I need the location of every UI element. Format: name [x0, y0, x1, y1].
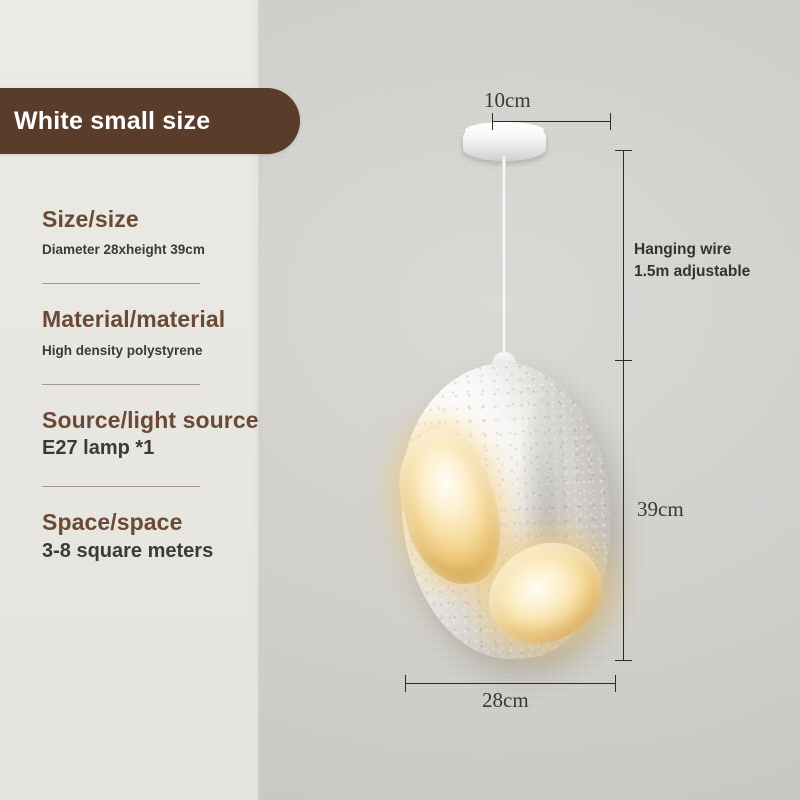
dimension-tick-canopy-left [492, 113, 493, 130]
hanging-wire-note-line1: Hanging wire [634, 241, 731, 258]
spec-item-space: Space/space 3-8 square meters [42, 509, 257, 562]
spec-list: Size/size Diameter 28xheight 39cm Materi… [42, 206, 257, 563]
spec-heading: Material/material [42, 306, 257, 332]
spec-value: High density polystyrene [42, 343, 257, 358]
dimension-line-wire [623, 150, 624, 360]
dimension-tick-width-right [615, 675, 616, 692]
dimension-tick-wire-top [615, 150, 632, 151]
title-banner-label: White small size [0, 107, 210, 136]
spec-item-light-source: Source/light source E27 lamp *1 [42, 407, 257, 460]
hanging-wire-note: Hanging wire 1.5m adjustable [634, 239, 750, 283]
spec-heading: Size/size [42, 206, 257, 232]
product-spec-image: White small size Size/size Diameter 28xh… [0, 0, 800, 800]
spec-value: Diameter 28xheight 39cm [42, 242, 257, 257]
spec-heading: Space/space [42, 509, 257, 535]
spec-item-material: Material/material High density polystyre… [42, 306, 257, 357]
spec-divider [42, 384, 200, 385]
spec-heading: Source/light source [42, 407, 257, 433]
dimension-line-canopy [492, 121, 610, 122]
dimension-tick-width-left [405, 675, 406, 692]
spec-item-size: Size/size Diameter 28xheight 39cm [42, 206, 257, 257]
dimension-label-shade-width: 28cm [482, 688, 529, 713]
spec-divider [42, 283, 200, 284]
spec-value: 3-8 square meters [42, 540, 257, 563]
dimension-line-height [623, 360, 624, 660]
dimension-label-shade-height: 39cm [637, 497, 684, 522]
title-banner: White small size [0, 88, 300, 154]
dimension-tick-height-bottom [615, 660, 632, 661]
hanging-wire-note-line2: 1.5m adjustable [634, 263, 750, 280]
dimension-tick-canopy-right [610, 113, 611, 130]
dimension-line-width [405, 683, 615, 684]
spec-value: E27 lamp *1 [42, 437, 257, 460]
dimension-label-canopy-width: 10cm [484, 88, 531, 113]
spec-divider [42, 486, 200, 487]
